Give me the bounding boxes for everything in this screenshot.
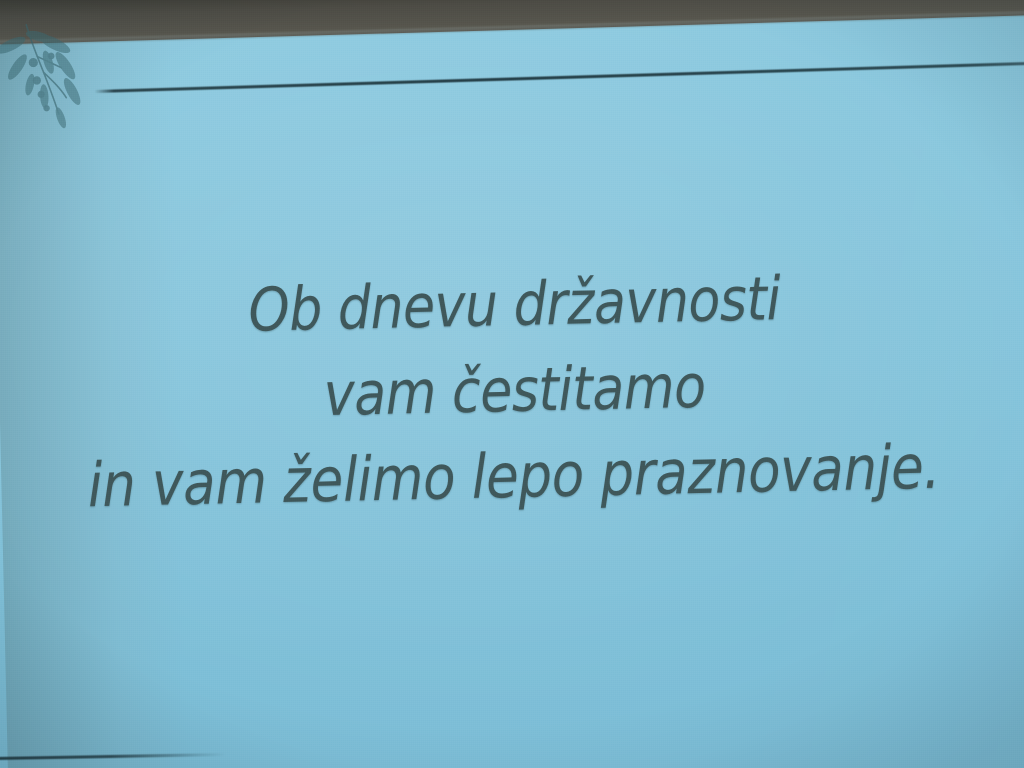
slide-photograph: Ob dnevu državnosti vam čestitamo in vam… bbox=[0, 0, 1024, 768]
olive-branch-icon bbox=[0, 20, 116, 153]
projection-screen-surface bbox=[0, 0, 1024, 768]
